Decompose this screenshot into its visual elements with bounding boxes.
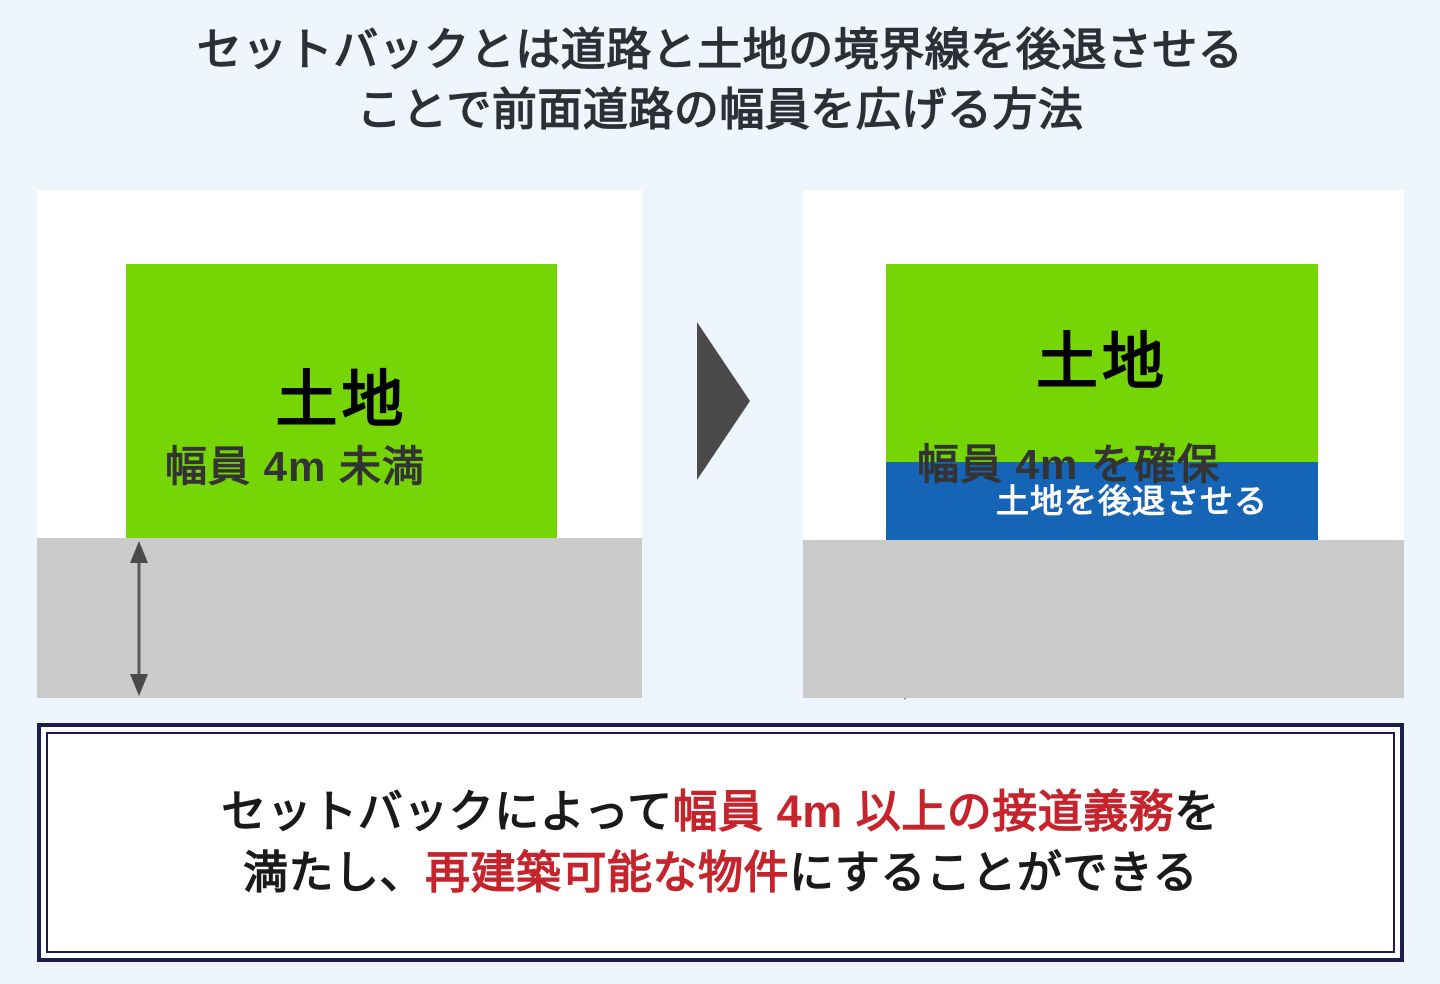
- panel-before-setback: 土地 幅員 4m 未満: [37, 190, 642, 698]
- conclusion-box-inner-border: セットバックによって幅員 4m 以上の接道義務を 満たし、再建築可能な物件にする…: [46, 732, 1395, 953]
- conclusion-line1-highlight: 幅員 4m 以上の接道義務: [673, 786, 1175, 837]
- land-block-before: 土地: [126, 264, 557, 538]
- road-strip-before: [37, 538, 642, 698]
- land-block-after: 土地: [886, 264, 1318, 462]
- conclusion-line2-post: にすることができる: [789, 847, 1198, 898]
- road-width-label-before: 幅員 4m 未満: [165, 446, 425, 488]
- setback-label: 土地を後退させる: [996, 485, 1268, 518]
- conclusion-line2-highlight: 再建築可能な物件: [425, 847, 789, 898]
- land-label-after: 土地: [1036, 332, 1168, 394]
- road-width-label-after: 幅員 4m を確保: [917, 444, 1220, 486]
- conclusion-line1-pre: セットバックによって: [221, 786, 672, 837]
- conclusion-box: セットバックによって幅員 4m 以上の接道義務を 満たし、再建築可能な物件にする…: [37, 723, 1404, 962]
- conclusion-line1-post: を: [1174, 786, 1220, 837]
- conclusion-text: セットバックによって幅員 4m 以上の接道義務を 満たし、再建築可能な物件にする…: [221, 782, 1219, 903]
- land-label-before: 土地: [275, 370, 407, 432]
- page-title: セットバックとは道路と土地の境界線を後退させる ことで前面道路の幅員を広げる方法: [0, 20, 1440, 140]
- panel-after-setback: 土地 土地を後退させる 幅員 4m を確保: [803, 190, 1404, 698]
- conclusion-line2-pre: 満たし、: [243, 847, 425, 898]
- conclusion-line-2: 満たし、再建築可能な物件にすることができる: [221, 843, 1219, 903]
- conclusion-line-1: セットバックによって幅員 4m 以上の接道義務を: [221, 782, 1219, 842]
- right-triangle-arrow: [697, 322, 750, 480]
- road-strip-after: [803, 540, 1404, 698]
